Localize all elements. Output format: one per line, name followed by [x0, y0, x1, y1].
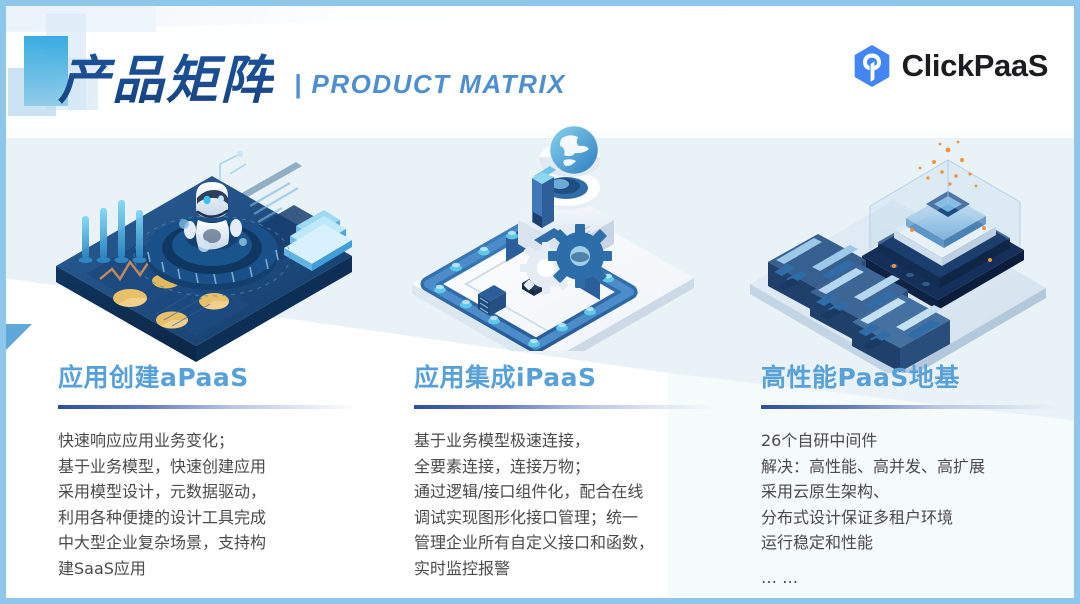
body-line: 基于业务模型极速连接， [414, 428, 744, 454]
column-ipaas: 应用集成iPaaS 基于业务模型极速连接， 全要素连接，连接万物； 通过逻辑/接… [414, 358, 744, 581]
body-line: 采用云原生架构、 [761, 479, 1080, 505]
body-line: 管理企业所有自定义接口和函数， [414, 530, 744, 556]
body-line: 通过逻辑/接口组件化，配合在线 [414, 479, 744, 505]
body-line: 利用各种便捷的设计工具完成 [58, 505, 388, 531]
body-line: 快速响应应用业务变化； [58, 428, 388, 454]
body-line: 中大型企业复杂场景，支持构 [58, 530, 388, 556]
brand-name: ClickPaaS [902, 48, 1048, 84]
slide-header: 产品矩阵 | PRODUCT MATRIX ClickPaaS [6, 6, 1074, 130]
column-heading: 高性能PaaS地基 [761, 358, 1080, 394]
heading-underline [414, 405, 714, 409]
body-line: 运行稳定和性能 [761, 530, 1080, 556]
brand-logo: ClickPaaS [852, 44, 1048, 88]
body-line: 全要素连接，连接万物； [414, 454, 744, 480]
body-line: 采用模型设计，元数据驱动， [58, 479, 388, 505]
body-line: 实时监控报警 [414, 556, 744, 582]
body-line: … … [761, 565, 1080, 591]
illustration-row [6, 116, 1074, 351]
column-paas-foundation: 高性能PaaS地基 26个自研中间件 解决：高性能、高并发、高扩展 采用云原生架… [761, 358, 1080, 590]
body-line: 分布式设计保证多租户环境 [761, 505, 1080, 531]
page-title: 产品矩阵 [58, 38, 274, 113]
column-heading: 应用创建aPaaS [58, 358, 388, 394]
heading-underline [761, 405, 1061, 409]
hexagon-logo-icon [852, 44, 892, 88]
column-heading: 应用集成iPaaS [414, 358, 744, 394]
body-line: 26个自研中间件 [761, 428, 1080, 454]
page-subtitle: | PRODUCT MATRIX [294, 69, 566, 100]
robot-dashboard-platform-illustration [44, 138, 364, 373]
slide: 产品矩阵 | PRODUCT MATRIX ClickPaaS [0, 0, 1080, 604]
body-line: 基于业务模型，快速创建应用 [58, 454, 388, 480]
body-line: 建SaaS应用 [58, 556, 388, 582]
heading-underline [58, 405, 358, 409]
body-spacer [761, 556, 1080, 565]
circuit-loop-globe-gear-illustration [394, 116, 714, 351]
body-line: 调试实现图形化接口管理；统一 [414, 505, 744, 531]
server-racks-chip-pyramid-illustration [744, 138, 1064, 373]
columns: 应用创建aPaaS 快速响应应用业务变化； 基于业务模型，快速创建应用 采用模型… [6, 358, 1074, 604]
column-body: 快速响应应用业务变化； 基于业务模型，快速创建应用 采用模型设计，元数据驱动， … [58, 428, 388, 581]
body-line: 解决：高性能、高并发、高扩展 [761, 454, 1080, 480]
column-apaas: 应用创建aPaaS 快速响应应用业务变化； 基于业务模型，快速创建应用 采用模型… [58, 358, 388, 581]
column-body: 26个自研中间件 解决：高性能、高并发、高扩展 采用云原生架构、 分布式设计保证… [761, 428, 1080, 590]
column-body: 基于业务模型极速连接， 全要素连接，连接万物； 通过逻辑/接口组件化，配合在线 … [414, 428, 744, 581]
